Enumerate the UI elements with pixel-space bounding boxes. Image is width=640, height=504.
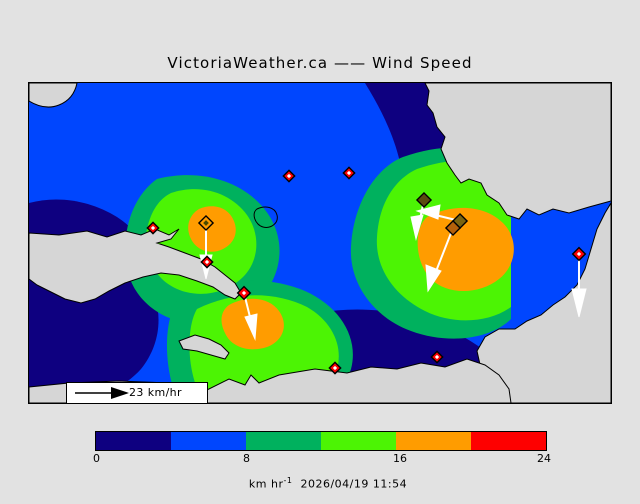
colorbar[interactable] <box>95 431 547 451</box>
colorbar-band-0 <box>96 432 171 450</box>
contour-band-16-20-north <box>188 206 236 252</box>
wind-speed-contour-map <box>29 83 611 403</box>
colorbar-band-1 <box>171 432 246 450</box>
colorbar-band-4 <box>396 432 471 450</box>
scale-legend-label: 23 km/hr <box>129 386 182 399</box>
colorbar-band-3 <box>321 432 396 450</box>
colorbar-caption: km hr-1 2026/04/19 11:54 <box>0 463 640 504</box>
colorbar-band-5 <box>471 432 546 450</box>
colorbar-band-2 <box>246 432 321 450</box>
scale-legend-box: 23 km/hr <box>66 382 208 404</box>
weather-map-page: VictoriaWeather.ca —— Wind Speed <box>0 0 640 480</box>
map-plot-area[interactable] <box>28 82 612 404</box>
page-title: VictoriaWeather.ca —— Wind Speed <box>0 54 640 72</box>
